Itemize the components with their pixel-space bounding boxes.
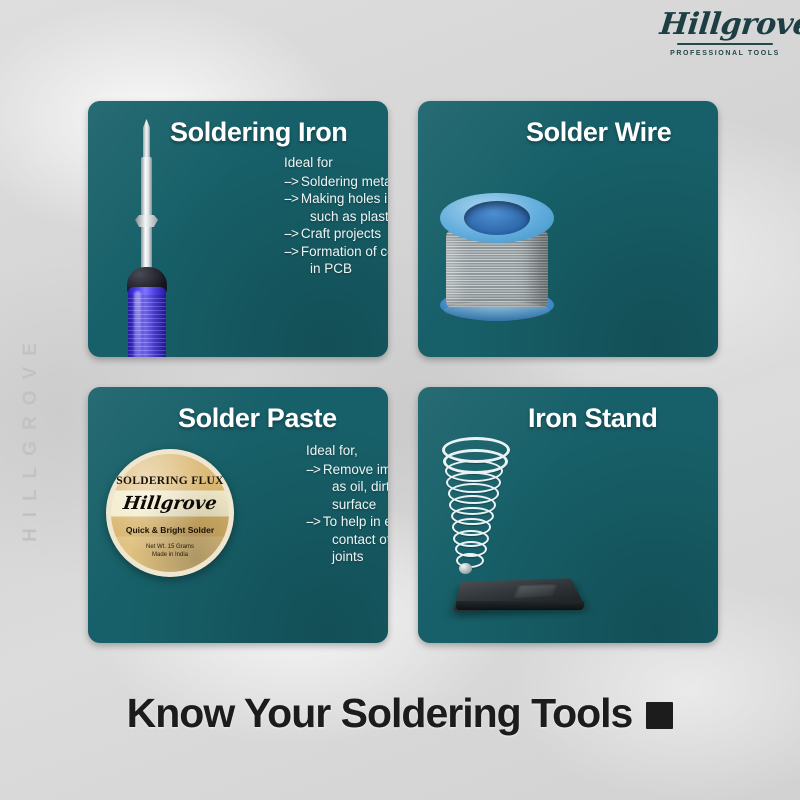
flux-tin-line-3: Quick & Bright Solder — [106, 525, 234, 535]
soldering-iron-image — [110, 119, 186, 347]
infographic-page: Hillgrove PROFESSIONAL TOOLS HILLGROVE S… — [0, 0, 800, 800]
bullet-arrow-icon: --> — [284, 244, 298, 259]
iron-stand-image — [432, 435, 594, 625]
list-item: -->Craft projects — [284, 225, 388, 243]
flux-tin-image: SOLDERING FLUX Hillgrove Quick & Bright … — [106, 449, 234, 577]
bullet-text: Craft projects — [301, 226, 381, 241]
stand-coil-spring-shape — [438, 435, 510, 571]
brand-logo-wordmark: Hillgrove — [658, 10, 791, 40]
brand-logo-rule — [677, 43, 773, 45]
card-bullets-soldering-iron: -->Soldering metal parts -->Making holes… — [284, 173, 388, 278]
card-soldering-iron: Soldering Iron Ideal for -->Soldering me… — [88, 101, 388, 357]
card-title-solder-paste: Solder Paste — [178, 403, 337, 434]
list-item: -->Formation of connection in PCB — [284, 243, 388, 278]
card-lead-soldering-iron: Ideal for — [284, 154, 388, 172]
bullet-arrow-icon: --> — [306, 462, 320, 477]
side-watermark: HILLGROVE — [16, 272, 46, 602]
bullet-arrow-icon: --> — [284, 191, 298, 206]
bullet-text: Formation of connection in PCB — [301, 244, 388, 277]
iron-handle-shape — [128, 287, 166, 357]
card-title-iron-stand: Iron Stand — [528, 403, 658, 434]
solder-wire-spool-image — [438, 193, 556, 333]
brand-logo: Hillgrove PROFESSIONAL TOOLS — [660, 10, 790, 57]
list-item: -->To help in electrical contact of elec… — [306, 513, 388, 566]
stand-screw-shape — [459, 563, 472, 574]
brand-logo-tagline: PROFESSIONAL TOOLS — [660, 50, 790, 57]
flux-tin-brand: Hillgrove — [106, 493, 234, 514]
list-item: -->Soldering metal parts — [284, 173, 388, 191]
card-solder-wire: Solder Wire Ideal for -->General purpose… — [418, 101, 718, 357]
bullet-text: Soldering metal parts — [301, 174, 388, 189]
bullet-text: To help in electrical contact of electri… — [323, 514, 388, 564]
list-item: -->Remove impurities such as oil, dirt f… — [306, 461, 388, 514]
card-iron-stand: Iron Stand Ideal for -->Uphold the weigh… — [418, 387, 718, 643]
iron-tip-shape — [143, 119, 150, 159]
bullet-arrow-icon: --> — [284, 174, 298, 189]
spool-center-hole-shape — [464, 201, 530, 235]
bullet-arrow-icon: --> — [284, 226, 298, 241]
bullet-text: Remove impurities such as oil, dirt from… — [323, 462, 388, 512]
card-lead-solder-paste: Ideal for, — [306, 442, 388, 460]
side-watermark-text: HILLGROVE — [20, 332, 42, 542]
footer-headline-text: Know Your Soldering Tools — [127, 690, 633, 736]
card-body-soldering-iron: Ideal for -->Soldering metal parts -->Ma… — [284, 154, 388, 278]
list-item: -->Making holes in materials such as pla… — [284, 190, 388, 225]
card-title-solder-wire: Solder Wire — [526, 117, 671, 148]
bullet-arrow-icon: --> — [306, 514, 320, 529]
card-solder-paste: SOLDERING FLUX Hillgrove Quick & Bright … — [88, 387, 388, 643]
stand-tray-shape — [513, 583, 558, 598]
iron-collar-shape — [135, 215, 158, 227]
spool-rim-shape — [444, 301, 550, 321]
card-bullets-solder-paste: -->Remove impurities such as oil, dirt f… — [306, 461, 388, 566]
card-title-soldering-iron: Soldering Iron — [170, 117, 347, 148]
stand-base-edge-shape — [456, 601, 585, 610]
flux-tin-line-1: SOLDERING FLUX — [106, 475, 234, 487]
card-body-solder-paste: Ideal for, -->Remove impurities such as … — [306, 442, 388, 566]
footer-headline: Know Your Soldering Tools — [0, 690, 800, 737]
flux-tin-line-4: Net Wt. 15 Grams Made in India — [106, 544, 234, 559]
square-block-icon — [646, 702, 673, 729]
bullet-text: Making holes in materials such as plasti… — [301, 191, 388, 224]
